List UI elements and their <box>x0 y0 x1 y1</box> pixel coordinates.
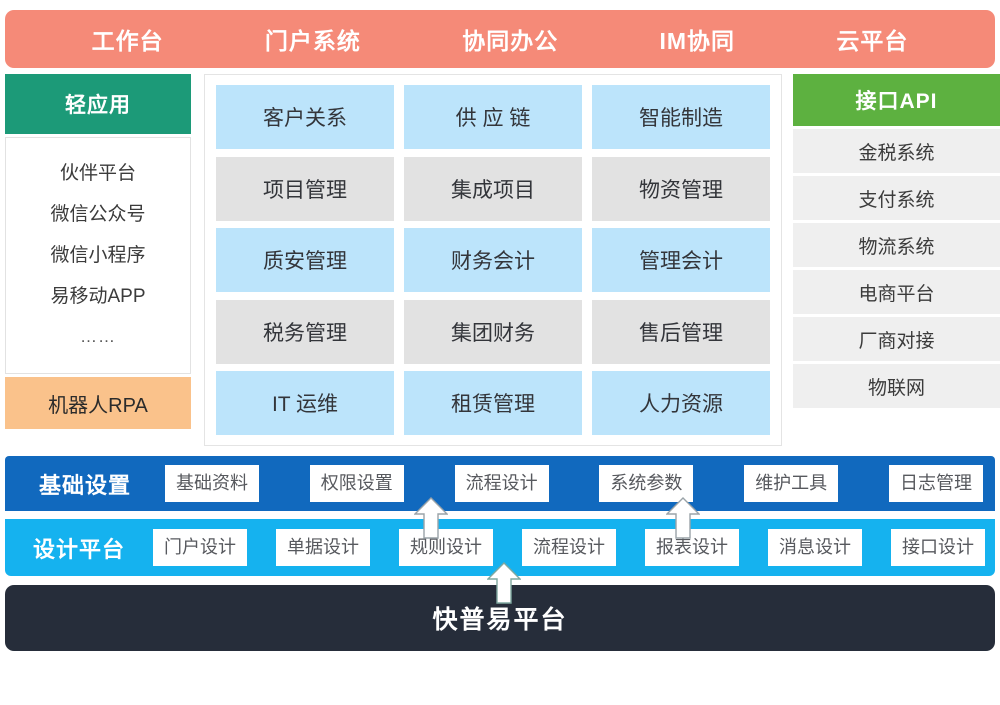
light-apps-column: 轻应用 伙伴平台 微信公众号 微信小程序 易移动APP …… 机器人RPA <box>5 74 191 440</box>
design-platform-chips: 门户设计 单据设计 规则设计 流程设计 报表设计 消息设计 接口设计 <box>153 529 987 566</box>
api-header: 接口API <box>793 74 1000 126</box>
api-item-2[interactable]: 物流系统 <box>793 223 1000 267</box>
modules-row-4: IT 运维 租赁管理 人力资源 <box>216 371 770 435</box>
design-platform-chip-1[interactable]: 单据设计 <box>276 529 370 566</box>
api-item-5[interactable]: 物联网 <box>793 364 1000 408</box>
module-cell-2-2[interactable]: 管理会计 <box>592 228 770 292</box>
light-apps-header-label: 轻应用 <box>65 89 131 119</box>
top-channel-bar: 工作台 门户系统 协同办公 IM协同 云平台 <box>5 10 995 68</box>
platform-banner-label: 快普易平台 <box>432 600 567 636</box>
modules-row-3: 税务管理 集团财务 售后管理 <box>216 300 770 364</box>
api-item-3[interactable]: 电商平台 <box>793 270 1000 314</box>
basic-settings-chip-2[interactable]: 流程设计 <box>455 465 549 502</box>
design-platform-chip-5[interactable]: 消息设计 <box>768 529 862 566</box>
design-platform-label: 设计平台 <box>5 532 153 564</box>
basic-settings-chips: 基础资料 权限设置 流程设计 系统参数 维护工具 日志管理 <box>165 465 987 502</box>
architecture-diagram: 工作台 门户系统 协同办公 IM协同 云平台 轻应用 伙伴平台 微信公众号 微信… <box>0 0 1000 705</box>
robot-rpa-block[interactable]: 机器人RPA <box>5 377 191 429</box>
design-platform-chip-3[interactable]: 流程设计 <box>522 529 616 566</box>
module-cell-0-2[interactable]: 智能制造 <box>592 85 770 149</box>
basic-settings-chip-4[interactable]: 维护工具 <box>744 465 838 502</box>
module-cell-4-1[interactable]: 租赁管理 <box>404 371 582 435</box>
modules-panel: 客户关系 供 应 链 智能制造 项目管理 集成项目 物资管理 质安管理 财务会计… <box>204 74 782 446</box>
module-cell-0-1[interactable]: 供 应 链 <box>404 85 582 149</box>
topbar-item-2[interactable]: 协同办公 <box>462 22 558 56</box>
module-cell-1-0[interactable]: 项目管理 <box>216 157 394 221</box>
api-column: 接口API 金税系统 支付系统 物流系统 电商平台 厂商对接 物联网 <box>793 74 1000 442</box>
topbar-item-3[interactable]: IM协同 <box>659 22 735 56</box>
module-cell-1-2[interactable]: 物资管理 <box>592 157 770 221</box>
arrow-up-icon-design-to-basic-right <box>666 497 700 539</box>
topbar-item-1[interactable]: 门户系统 <box>265 22 361 56</box>
light-apps-item-2[interactable]: 微信小程序 <box>50 246 145 267</box>
light-apps-item-3[interactable]: 易移动APP <box>50 287 145 308</box>
module-cell-1-1[interactable]: 集成项目 <box>404 157 582 221</box>
basic-settings-chip-1[interactable]: 权限设置 <box>310 465 404 502</box>
design-platform-chip-0[interactable]: 门户设计 <box>153 529 247 566</box>
module-cell-3-0[interactable]: 税务管理 <box>216 300 394 364</box>
basic-settings-band: 基础设置 基础资料 权限设置 流程设计 系统参数 维护工具 日志管理 <box>5 456 995 511</box>
light-apps-item-1[interactable]: 微信公众号 <box>50 205 145 226</box>
basic-settings-chip-0[interactable]: 基础资料 <box>165 465 259 502</box>
api-item-0[interactable]: 金税系统 <box>793 129 1000 173</box>
module-cell-2-0[interactable]: 质安管理 <box>216 228 394 292</box>
api-item-1[interactable]: 支付系统 <box>793 176 1000 220</box>
module-cell-0-0[interactable]: 客户关系 <box>216 85 394 149</box>
module-cell-4-0[interactable]: IT 运维 <box>216 371 394 435</box>
robot-rpa-label: 机器人RPA <box>48 389 148 418</box>
module-cell-2-1[interactable]: 财务会计 <box>404 228 582 292</box>
light-apps-header: 轻应用 <box>5 74 191 134</box>
light-apps-item-ellipsis: …… <box>80 328 116 347</box>
module-cell-3-2[interactable]: 售后管理 <box>592 300 770 364</box>
light-apps-item-0[interactable]: 伙伴平台 <box>60 164 136 185</box>
arrow-up-icon-design-to-basic-left <box>414 497 448 539</box>
modules-row-2: 质安管理 财务会计 管理会计 <box>216 228 770 292</box>
module-cell-3-1[interactable]: 集团财务 <box>404 300 582 364</box>
api-item-4[interactable]: 厂商对接 <box>793 317 1000 361</box>
arrow-up-icon-platform-to-design <box>487 562 521 604</box>
topbar-item-4[interactable]: 云平台 <box>836 22 908 56</box>
topbar-item-0[interactable]: 工作台 <box>92 22 164 56</box>
api-header-label: 接口API <box>855 85 937 115</box>
design-platform-chip-6[interactable]: 接口设计 <box>891 529 985 566</box>
modules-row-1: 项目管理 集成项目 物资管理 <box>216 157 770 221</box>
middle-region: 轻应用 伙伴平台 微信公众号 微信小程序 易移动APP …… 机器人RPA 客户… <box>0 74 1000 448</box>
light-apps-list: 伙伴平台 微信公众号 微信小程序 易移动APP …… <box>5 137 191 374</box>
module-cell-4-2[interactable]: 人力资源 <box>592 371 770 435</box>
basic-settings-chip-5[interactable]: 日志管理 <box>889 465 983 502</box>
basic-settings-label: 基础设置 <box>5 468 165 500</box>
modules-row-0: 客户关系 供 应 链 智能制造 <box>216 85 770 149</box>
